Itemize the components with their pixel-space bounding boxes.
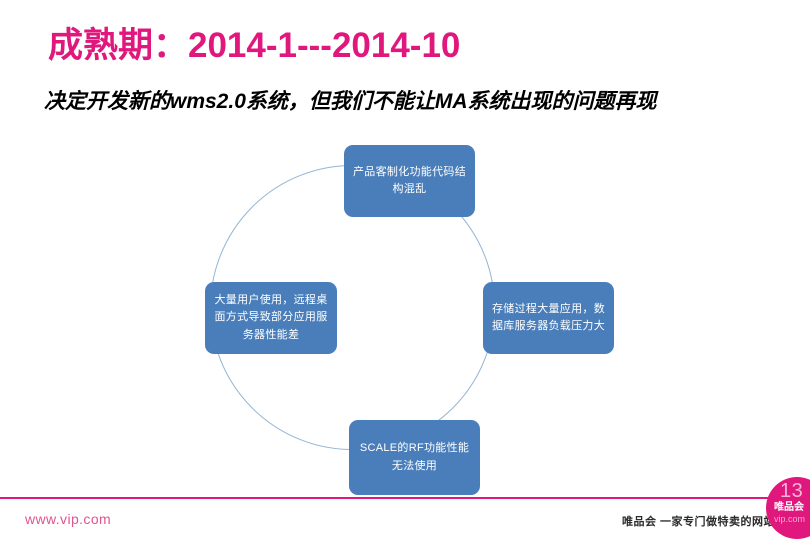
- badge-brand-label: 唯品会: [774, 503, 804, 513]
- page-number-badge: 13 唯品会 vip.com: [766, 477, 810, 539]
- slide-subtitle: 决定开发新的wms2.0系统，但我们不能让MA系统出现的问题再现: [44, 90, 657, 114]
- footer-tagline: 唯品会 一家专门做特卖的网站: [622, 513, 775, 529]
- cycle-diagram: 产品客制化功能代码结构混乱 存储过程大量应用，数据库服务器负载压力大 SCALE…: [195, 140, 615, 500]
- footer-url-link[interactable]: www.vip.com: [25, 511, 111, 527]
- cycle-node-top-label: 产品客制化功能代码结构混乱: [351, 164, 468, 198]
- cycle-node-left-label: 大量用户使用，远程桌面方式导致部分应用服务器性能差: [212, 292, 330, 343]
- cycle-node-bottom-label: SCALE的RF功能性能无法使用: [356, 440, 473, 474]
- footer-divider: [0, 497, 810, 499]
- cycle-node-left[interactable]: 大量用户使用，远程桌面方式导致部分应用服务器性能差: [205, 282, 337, 354]
- cycle-node-right-label: 存储过程大量应用，数据库服务器负载压力大: [490, 301, 607, 335]
- cycle-node-right[interactable]: 存储过程大量应用，数据库服务器负载压力大: [483, 282, 614, 354]
- badge-domain-label: vip.com: [774, 515, 805, 524]
- cycle-node-bottom[interactable]: SCALE的RF功能性能无法使用: [349, 420, 480, 495]
- page-number: 13: [780, 481, 803, 501]
- cycle-node-top[interactable]: 产品客制化功能代码结构混乱: [344, 145, 475, 217]
- page-title: 成熟期：2014-1---2014-10: [48, 26, 460, 66]
- presentation-slide: 成熟期：2014-1---2014-10 决定开发新的wms2.0系统，但我们不…: [0, 0, 810, 540]
